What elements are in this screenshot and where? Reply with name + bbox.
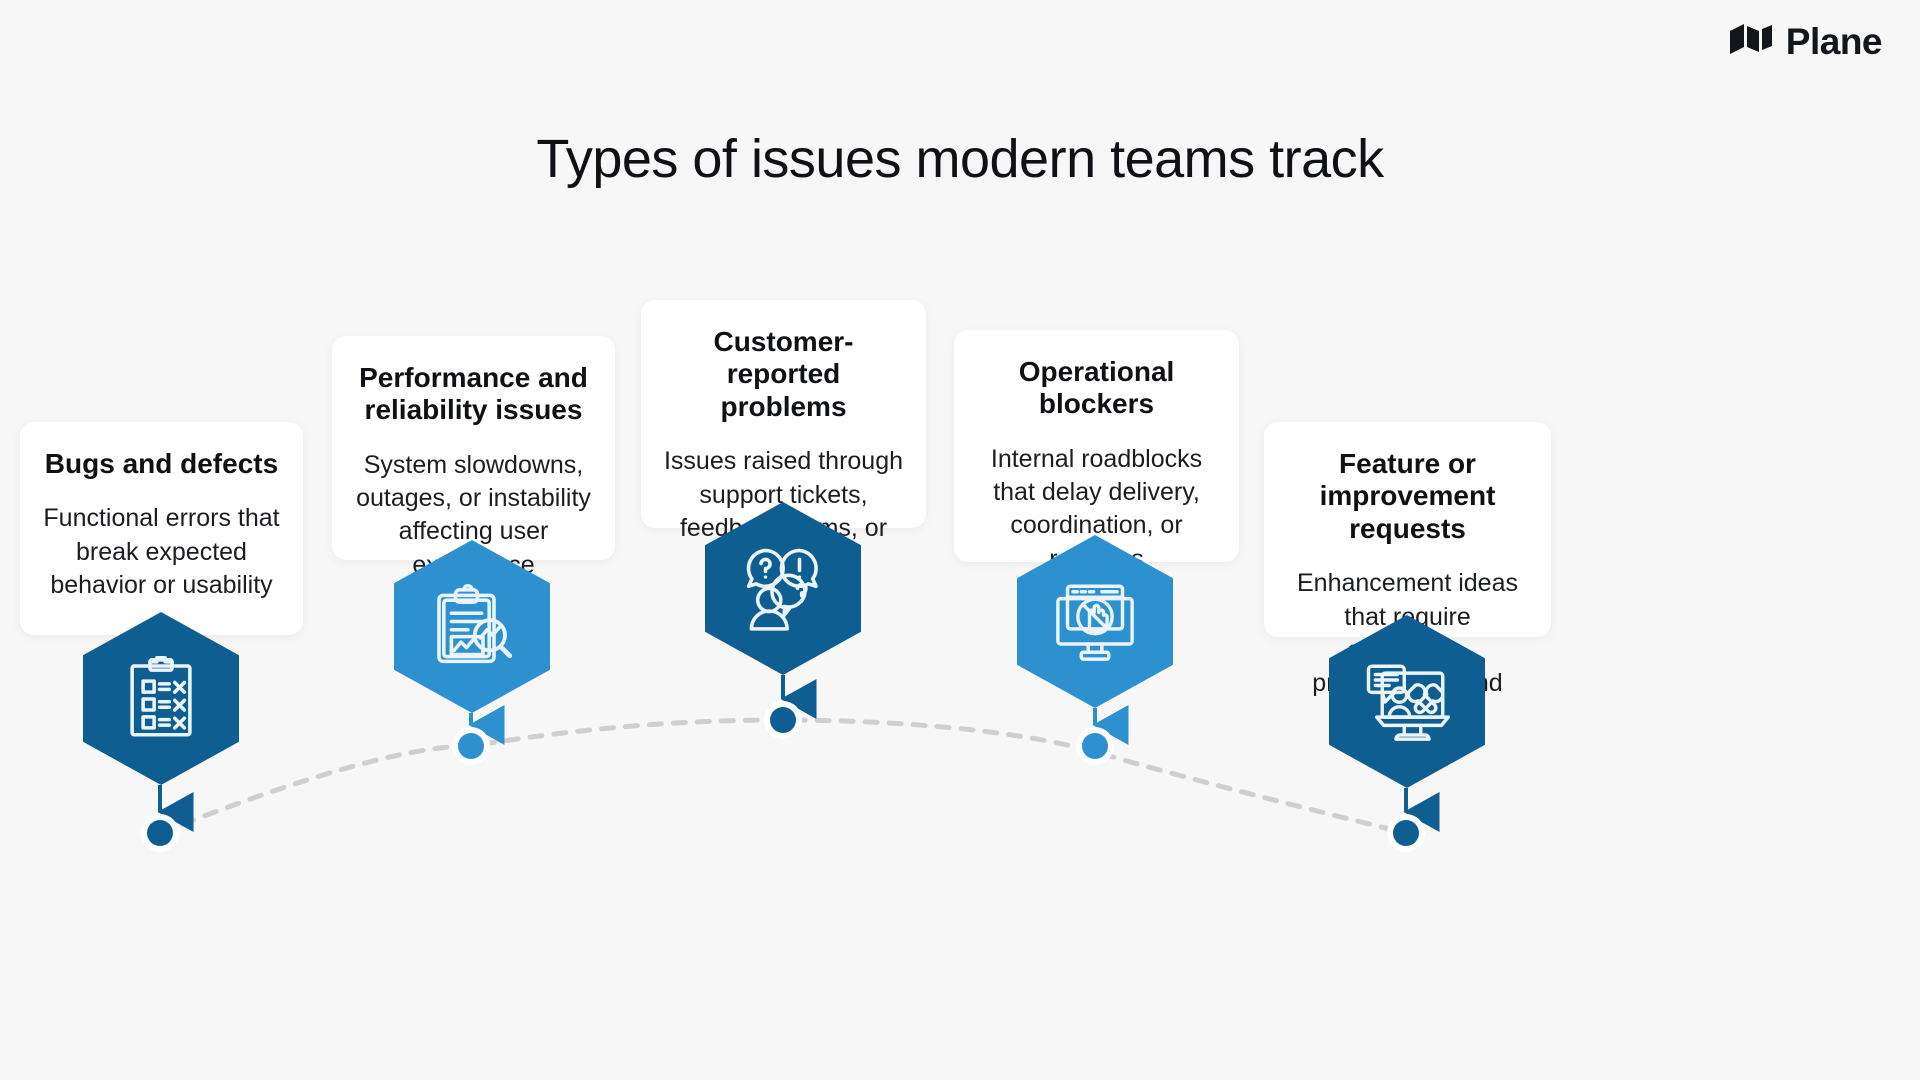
card-title: Feature or improvement requests (1286, 448, 1529, 545)
dot-core (147, 820, 173, 846)
dot-core (458, 733, 484, 759)
milestone-dot-performance-and-reliability-issues[interactable] (452, 727, 490, 765)
card-performance-and-reliability-issues[interactable]: Performance and reliability issues Syste… (332, 336, 615, 560)
card-description: Functional errors that break expected be… (42, 502, 281, 602)
milestone-dot-feature-or-improvement-requests[interactable] (1387, 814, 1425, 852)
card-operational-blockers[interactable]: Operational blockers Internal roadblocks… (954, 330, 1239, 562)
dot-core (770, 707, 796, 733)
card-title: Bugs and defects (42, 448, 281, 480)
milestone-dot-bugs-and-defects[interactable] (141, 814, 179, 852)
monitor-stop-hand-icon (1051, 578, 1139, 666)
infographic-canvas: Plane Types of issues modern teams track… (0, 0, 1920, 1080)
milestone-dot-customer-reported-problems[interactable] (764, 701, 802, 739)
card-customer-reported-problems[interactable]: Customer-reported problems Issues raised… (641, 300, 926, 528)
milestone-dot-operational-blockers[interactable] (1076, 727, 1114, 765)
dot-core (1393, 820, 1419, 846)
person-speech-bubbles-question-icon (739, 545, 827, 633)
card-feature-or-improvement-requests[interactable]: Feature or improvement requests Enhancem… (1264, 422, 1551, 637)
clipboard-chart-magnifier-icon (428, 583, 516, 671)
card-title: Operational blockers (976, 356, 1217, 421)
clipboard-checklist-x-icon (117, 655, 205, 743)
dot-core (1082, 733, 1108, 759)
monitor-person-tools-icon (1363, 658, 1451, 746)
card-title: Customer-reported problems (663, 326, 904, 423)
card-title: Performance and reliability issues (354, 362, 593, 427)
card-bugs-and-defects[interactable]: Bugs and defects Functional errors that … (20, 422, 303, 635)
